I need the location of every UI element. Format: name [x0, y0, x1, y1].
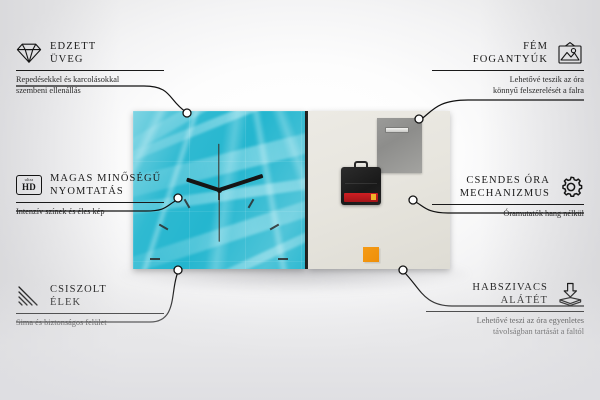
foam-pad [363, 247, 379, 262]
polished-edge-icon [16, 285, 42, 307]
clock-center-pin [217, 188, 222, 193]
callout-title: CSISZOLT ÉLEK [50, 283, 107, 309]
ultra-hd-icon-main: HD [22, 183, 36, 192]
callout-divider [432, 204, 584, 205]
callout-head: HABSZIVACS ALÁTÉT [426, 281, 584, 307]
callout-metal-handles[interactable]: FÉM FOGANTYÚK Lehetővé teszik az óra kön… [432, 40, 584, 96]
callout-subtitle: Repedésekkel és karcolásokkal szembeni e… [16, 74, 164, 96]
callout-subtitle: Lehetővé teszik az óra könnyű felszerelé… [432, 74, 584, 96]
clock-mechanism [341, 167, 381, 205]
callout-divider [16, 70, 164, 71]
ultra-hd-icon: ultra HD [16, 175, 42, 195]
battery [344, 193, 378, 202]
clock-second-hand-tail [218, 144, 219, 190]
mechanism-seam [345, 183, 377, 184]
callout-subtitle: Óramutatók hang nélkül [432, 208, 584, 219]
metal-hanger-plate [377, 118, 422, 173]
callout-tempered-glass[interactable]: EDZETT ÜVEG Repedésekkel és karcolásokka… [16, 40, 164, 96]
callout-head: EDZETT ÜVEG [16, 40, 164, 66]
foam-pad-arrow-icon [556, 282, 584, 306]
clock-hour-hand [186, 178, 220, 192]
callout-subtitle: Lehetővé teszi az óra egyenletes távolsá… [426, 315, 584, 337]
gear-icon [558, 175, 584, 199]
callout-title: MAGAS MINŐSÉGŰ NYOMTATÁS [50, 172, 161, 198]
clock-back-panel [308, 111, 450, 269]
callout-divider [16, 313, 164, 314]
callout-head: CSISZOLT ÉLEK [16, 283, 164, 309]
diamond-icon [16, 42, 42, 64]
callout-title: EDZETT ÜVEG [50, 40, 96, 66]
callout-subtitle: Sima és biztonságos felület [16, 317, 164, 328]
callout-title: HABSZIVACS ALÁTÉT [472, 281, 548, 307]
callout-title: FÉM FOGANTYÚK [473, 40, 548, 66]
callout-subtitle: Intenzív színek és éles kép [16, 206, 164, 217]
callout-divider [432, 70, 584, 71]
clock-minute-hand [218, 174, 263, 192]
callout-silent-mechanism[interactable]: CSENDES ÓRA MECHANIZMUS Óramutatók hang … [432, 174, 584, 219]
infographic-stage: EDZETT ÜVEG Repedésekkel és karcolásokka… [0, 0, 600, 400]
callout-divider [16, 202, 164, 203]
callout-head: FÉM FOGANTYÚK [432, 40, 584, 66]
hanger-slot [385, 127, 409, 133]
callout-head: ultra HD MAGAS MINŐSÉGŰ NYOMTATÁS [16, 172, 164, 198]
callout-divider [426, 311, 584, 312]
callout-title: CSENDES ÓRA MECHANIZMUS [460, 174, 550, 200]
callout-high-quality-print[interactable]: ultra HD MAGAS MINŐSÉGŰ NYOMTATÁS Intenz… [16, 172, 164, 217]
clock-second-hand [218, 190, 219, 242]
product-image [133, 111, 450, 269]
picture-frame-hanger-icon [556, 41, 584, 65]
callout-head: CSENDES ÓRA MECHANIZMUS [432, 174, 584, 200]
mechanism-hook [354, 161, 368, 169]
callout-polished-edges[interactable]: CSISZOLT ÉLEK Sima és biztonságos felüle… [16, 283, 164, 328]
callout-foam-pad[interactable]: HABSZIVACS ALÁTÉT Lehetővé teszi az óra … [426, 281, 584, 337]
